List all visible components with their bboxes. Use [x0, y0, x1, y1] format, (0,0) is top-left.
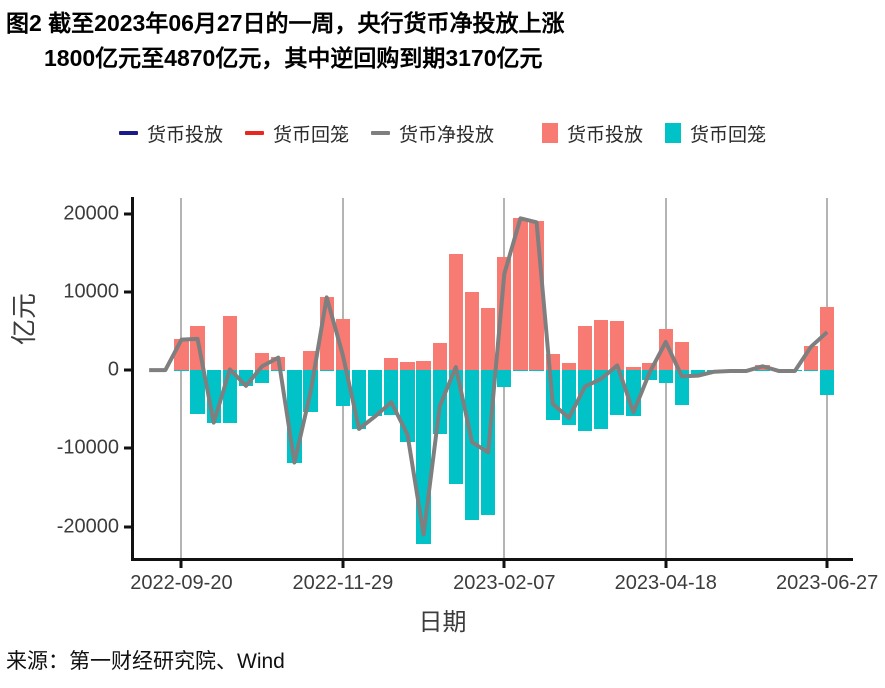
source-note: 来源：第一财经研究院、Wind	[6, 645, 285, 675]
x-tick-mark	[341, 559, 344, 568]
x-tick-label: 2023-02-07	[453, 572, 555, 595]
x-tick-group: 2022-09-202022-11-292023-02-072023-04-18…	[0, 0, 885, 688]
x-tick-mark	[180, 559, 183, 568]
chart-figure: 图2 截至2023年06月27日的一周，央行货币净投放上涨 1800亿元至487…	[0, 0, 885, 688]
x-tick-label: 2023-06-27	[776, 572, 878, 595]
x-tick-mark	[664, 559, 667, 568]
x-tick-label: 2023-04-18	[615, 572, 717, 595]
x-tick-mark	[826, 559, 829, 568]
x-tick-label: 2022-11-29	[292, 572, 393, 595]
x-tick-label: 2022-09-20	[130, 572, 232, 595]
x-tick-mark	[503, 559, 506, 568]
